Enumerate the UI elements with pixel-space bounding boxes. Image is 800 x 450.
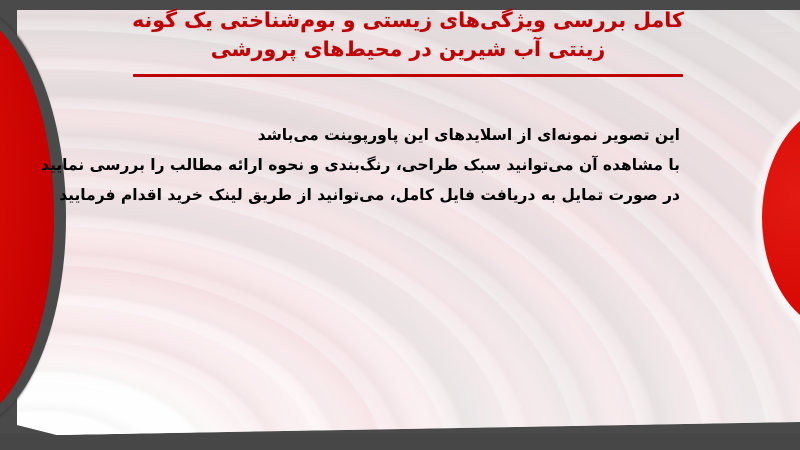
slide-title-line-2: زینتی آب شیرین در محیط‌های پرورشی [130, 35, 686, 64]
slide-body-line-3: در صورت تمایل به دریافت فایل کامل، می‌تو… [60, 180, 680, 210]
title-underline-rule [133, 74, 683, 77]
slide-body-text: این تصویر نمونه‌ای از اسلایدهای این پاور… [60, 120, 680, 210]
slide-bottom-band [0, 433, 800, 450]
slide-title: کامل بررسی ویژگی‌های زیستی و بوم‌شناختی … [130, 6, 686, 64]
presentation-slide: کامل بررسی ویژگی‌های زیستی و بوم‌شناختی … [0, 0, 800, 450]
slide-body-line-2: با مشاهده آن می‌توانید سبک طراحی، رنگ‌بن… [60, 150, 680, 180]
slide-body-line-1: این تصویر نمونه‌ای از اسلایدهای این پاور… [60, 120, 680, 150]
slide-title-line-1: کامل بررسی ویژگی‌های زیستی و بوم‌شناختی … [130, 6, 686, 35]
